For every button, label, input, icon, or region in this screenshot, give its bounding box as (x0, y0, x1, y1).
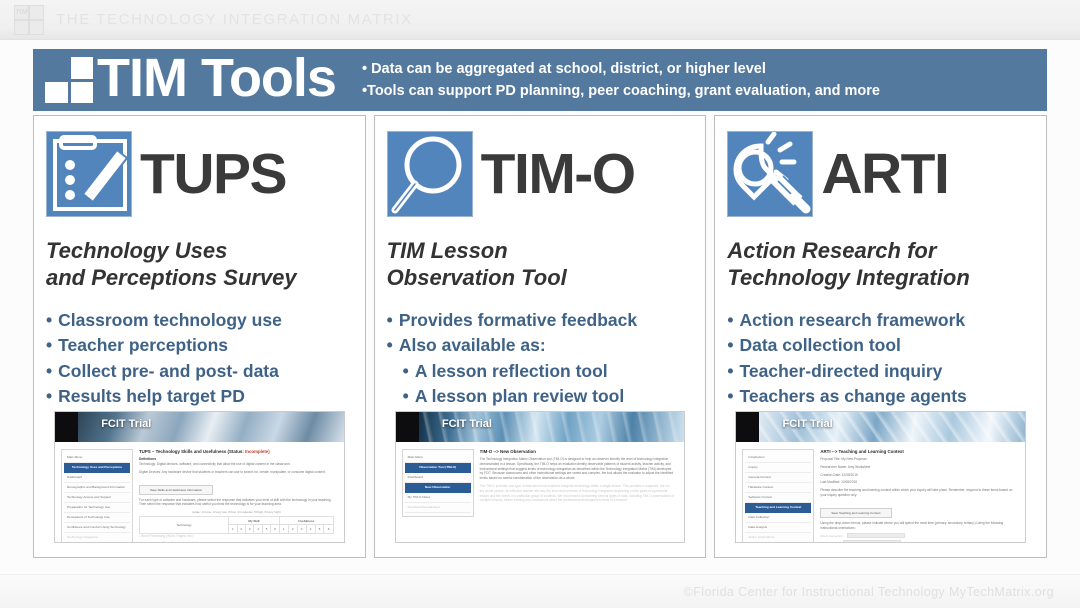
save-button[interactable]: Save Teaching and Learning Context (820, 508, 891, 518)
thumb-banner-label: FCIT Trial (783, 418, 833, 430)
thumb-field-row[interactable]: Direct Instruction (820, 533, 1015, 538)
list-item: Results help target PD (46, 384, 353, 410)
table-group-my-skill: My Skill (229, 517, 280, 525)
field-label: Peer Teaching (820, 541, 839, 543)
list-item: Teacher perceptions (46, 333, 353, 359)
tim-watermark-logo-icon (14, 5, 44, 35)
dropdown-select[interactable] (843, 540, 901, 543)
list-item: Teachers as change agents (727, 384, 1034, 410)
thumb-main: TUPS – Technology Skills and Usefulness … (139, 449, 338, 543)
table-col-technology: Technology (140, 517, 229, 533)
list-item: Also available as: (387, 333, 694, 359)
thumb-banner: FCIT Trial (396, 412, 685, 442)
panel-arti-acronym: ARTI (821, 146, 948, 203)
table-cell: 2 (237, 525, 245, 533)
field-label: Direct Instruction (820, 534, 843, 538)
list-item[interactable]: Action Implications (745, 533, 811, 543)
list-item: Classroom technology use (46, 308, 353, 334)
header-bullet-1: •Tools can support PD planning, peer coa… (362, 80, 880, 102)
thumb-title: TIM-O --> New Observation (480, 449, 675, 454)
thumb-field-row[interactable]: Peer Teaching (820, 540, 1015, 543)
panel-timo-screenshot[interactable]: FCIT Trial Main Menu Observation Tool (T… (395, 411, 686, 543)
thumb-main: ARTI --> Teaching and Learning Context P… (820, 449, 1019, 543)
list-item[interactable]: Dashboard (64, 473, 130, 483)
panel-timo-subtitle-line-0: TIM Lesson (387, 238, 694, 265)
list-item[interactable]: Perceptions of Technology Use (64, 513, 130, 523)
list-item[interactable]: Inquiry (745, 463, 811, 473)
table-group-usefulness: Usefulness (279, 517, 333, 525)
tim-logo-icon (45, 57, 93, 103)
magnifier-icon (387, 131, 473, 217)
panel-tups[interactable]: TUPS Technology Uses and Perceptions Sur… (33, 115, 366, 558)
table-row: Technology My Skill Usefulness (140, 517, 334, 525)
list-item[interactable]: Technology Uses and Perceptions (64, 463, 130, 473)
panel-timo-subtitle-line-1: Observation Tool (387, 265, 694, 292)
thumb-body: Introduction Inquiry General Context Har… (736, 442, 1025, 543)
list-item[interactable]: General Context (745, 473, 811, 483)
save-button[interactable]: Save Skills and Usefulness Information (139, 485, 213, 495)
thumb-scale-note: (scale: 1=none, 2=very low, 3=low, 4=mod… (139, 510, 334, 514)
table-cell: 4 (306, 525, 315, 533)
panel-tups-head: TUPS (46, 126, 353, 222)
thumb-paragraph: Please describe the teaching and learnin… (820, 488, 1015, 498)
thumb-paragraph: The Technology Integration Matrix Observ… (480, 457, 675, 481)
header-bullets: • Data can be aggregated at school, dist… (362, 58, 880, 103)
thumb-sidebar[interactable]: Main Menu Technology Uses and Perception… (61, 449, 133, 543)
list-item[interactable]: Observation Tool (TIM-O) (405, 463, 471, 473)
panel-tups-acronym: TUPS (140, 146, 286, 203)
panel-tups-bullets: Classroom technology use Teacher percept… (46, 308, 353, 410)
thumb-instructions: For each type of software and hardware, … (139, 498, 334, 508)
list-item[interactable]: Software Context (745, 493, 811, 503)
thumb-title: TUPS – Technology Skills and Usefulness … (139, 449, 334, 454)
thumb-instructions: Using the drop-down menus, please indica… (820, 521, 1015, 531)
thumb-meta-2: Creation Date: 12/08/2015 (820, 473, 1015, 478)
list-item[interactable]: Dashboard (405, 473, 471, 483)
tim-tools-header: TIM Tools • Data can be aggregated at sc… (33, 49, 1047, 111)
list-item[interactable]: New Observation (405, 483, 471, 493)
list-item[interactable]: Introduction (745, 453, 811, 463)
table-cell: 6 (271, 525, 279, 533)
table-cell: 1 (279, 525, 288, 533)
table-skills: Technology My Skill Usefulness 1 2 3 4 5… (139, 516, 334, 533)
list-item: Collect pre- and post- data (46, 359, 353, 385)
list-item[interactable]: Download Spreadsheet (405, 503, 471, 513)
thumb-banner: FCIT Trial (55, 412, 344, 442)
panel-tups-screenshot[interactable]: FCIT Trial Main Menu Technology Uses and… (54, 411, 345, 543)
panel-arti-subtitle-line-0: Action Research for (727, 238, 1034, 265)
panel-arti-subtitle-line-1: Technology Integration (727, 265, 1034, 292)
list-item[interactable]: Confidence and Comfort Using Technology (64, 523, 130, 533)
table-cell: 1 (229, 525, 237, 533)
table-cell: 4 (254, 525, 262, 533)
table-cell: 6 (324, 525, 333, 533)
page-title: TIM Tools (97, 51, 336, 105)
panel-timo-subtitle: TIM Lesson Observation Tool (387, 238, 694, 292)
thumb-body: Main Menu Observation Tool (TIM-O) Dashb… (396, 442, 685, 517)
list-item[interactable]: Demographic and Background Information (64, 483, 130, 493)
panel-arti-bullets: Action research framework Data collectio… (727, 308, 1034, 410)
thumb-banner-label: FCIT Trial (442, 418, 492, 430)
thumb-meta-1: Researcher Name: Amy Worksheet (820, 465, 1015, 470)
table-cell: 5 (262, 525, 270, 533)
list-item[interactable]: Technology Integration (64, 533, 130, 543)
list-item[interactable]: Data Collection (745, 513, 811, 523)
footer-copyright: ©Florida Center for Instructional Techno… (684, 585, 1054, 599)
panel-timo[interactable]: TIM-O TIM Lesson Observation Tool Provid… (374, 115, 707, 558)
list-item[interactable]: Main Menu (405, 453, 471, 463)
list-item: Data collection tool (727, 333, 1034, 359)
thumb-banner-label: FCIT Trial (101, 418, 151, 430)
panel-tups-subtitle-line-1: and Perceptions Survey (46, 265, 353, 292)
list-item: Action research framework (727, 308, 1034, 334)
clipboard-pen-icon (46, 131, 132, 217)
panel-tups-subtitle: Technology Uses and Perceptions Survey (46, 238, 353, 292)
thumb-meta-3: Last Modified: 12/08/2015 (820, 480, 1015, 485)
thumb-section-heading: Definitions (139, 457, 334, 461)
thumb-title: ARTI --> Teaching and Learning Context (820, 449, 1015, 454)
footer: ©Florida Center for Instructional Techno… (0, 574, 1080, 608)
table-cell: 3 (297, 525, 306, 533)
list-item: Teacher-directed inquiry (727, 359, 1034, 385)
thumb-row-label: • Spreadsheets (Excel, Numbers, etc.) (139, 541, 334, 543)
list-item[interactable]: Hardware Context (745, 483, 811, 493)
thumb-paragraph: Technology: Digital devices, software, a… (139, 462, 334, 467)
panel-timo-acronym: TIM-O (481, 146, 635, 203)
thumb-banner: FCIT Trial (736, 412, 1025, 442)
status-badge: Incomplete) (245, 449, 270, 454)
header-bullet-0: • Data can be aggregated at school, dist… (362, 58, 880, 80)
table-cell: 3 (245, 525, 253, 533)
panel-arti-subtitle: Action Research for Technology Integrati… (727, 238, 1034, 292)
list-item: A lesson plan review tool (403, 384, 694, 410)
thumb-fields: Direct Instruction Peer Teaching (820, 533, 1015, 543)
list-item[interactable]: Teaching and Learning Context (745, 503, 811, 513)
lightbulb-icon (727, 131, 813, 217)
thumb-meta-0: Proposal Title: My New Proposal (820, 457, 1015, 462)
top-watermark-title: THE TECHNOLOGY INTEGRATION MATRIX (56, 11, 413, 28)
list-item[interactable]: Preparation for Technology Use (64, 503, 130, 513)
table-cell: 2 (288, 525, 297, 533)
panel-arti[interactable]: ARTI Action Research for Technology Inte… (714, 115, 1047, 558)
list-item[interactable]: Data Analysis (745, 523, 811, 533)
table-cell: 5 (315, 525, 324, 533)
thumb-paragraph: The TIM-O provides one type of data abou… (480, 484, 675, 503)
list-item[interactable]: Main Menu (64, 453, 130, 463)
thumb-paragraph: Digital Devices: Any hardware device tha… (139, 470, 334, 475)
list-item: A lesson reflection tool (403, 359, 694, 385)
dropdown-select[interactable] (847, 533, 905, 538)
top-watermark-bar: THE TECHNOLOGY INTEGRATION MATRIX (0, 0, 1080, 40)
thumb-sidebar[interactable]: Main Menu Observation Tool (TIM-O) Dashb… (402, 449, 474, 517)
list-item[interactable]: Technology Access and Support (64, 493, 130, 503)
thumb-sidebar[interactable]: Introduction Inquiry General Context Har… (742, 449, 814, 543)
thumb-body: Main Menu Technology Uses and Perception… (55, 442, 344, 543)
panel-arti-head: ARTI (727, 126, 1034, 222)
panel-tups-subtitle-line-0: Technology Uses (46, 238, 353, 265)
panel-arti-screenshot[interactable]: FCIT Trial Introduction Inquiry General … (735, 411, 1026, 543)
thumb-row-label: • Word Processing (Word, Pages, etc.) (139, 534, 334, 539)
slide-root: THE TECHNOLOGY INTEGRATION MATRIX TIM To… (0, 0, 1080, 608)
thumb-main: TIM-O --> New Observation The Technology… (480, 449, 679, 517)
panel-timo-bullets: Provides formative feedback Also availab… (387, 308, 694, 410)
panel-timo-head: TIM-O (387, 126, 694, 222)
list-item[interactable]: My TIM-O Notes (405, 493, 471, 503)
list-item: Provides formative feedback (387, 308, 694, 334)
tool-panels: TUPS Technology Uses and Perceptions Sur… (33, 115, 1047, 558)
